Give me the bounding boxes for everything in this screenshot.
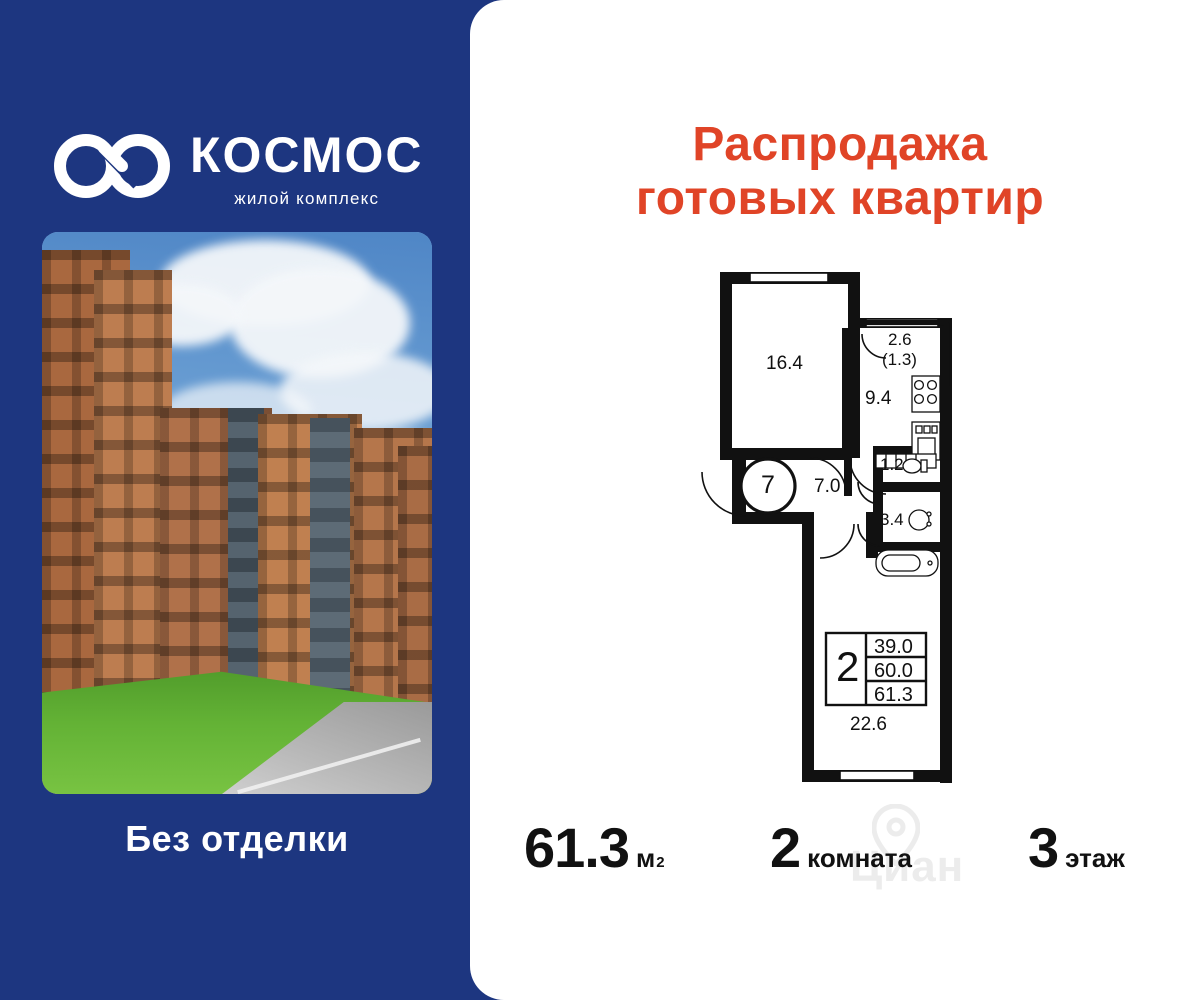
page-title: Распродажа готовых квартир [510,118,1170,226]
spec-area-unit-sup: 2 [656,854,664,871]
room-area-living-room: 22.6 [850,714,887,736]
spec-floor-label: этаж [1065,843,1125,874]
stamp-total-area: 61.3 [874,684,913,707]
finishing-caption: Без отделки [42,818,432,860]
spec-floor-value: 3 [1028,820,1058,876]
stamp-living-area: 39.0 [874,636,913,659]
stamp-room-count: 2 [836,643,859,691]
spec-area: 61.3 м 2 [524,820,665,876]
spec-floor: 3 этаж [1028,820,1125,876]
page-root: КОСМОС жилой комплекс Без отделки Распро… [0,0,1200,1000]
brand-text: КОСМОС жилой комплекс [190,130,424,209]
balcony-area: 2.6 [888,330,912,350]
apartment-specs: 61.3 м 2 2 комната 3 этаж [500,806,1190,896]
spec-area-value: 61.3 [524,820,629,876]
room-area-kitchen: 9.4 [865,388,891,410]
headline-line-2: готовых квартир [510,172,1170,226]
spec-rooms-label: комната [807,843,912,874]
brand-subtitle: жилой комплекс [190,189,424,209]
residential-complex-photo [42,232,432,794]
floor-plan: 16.4 9.4 2.6 (1.3) 7 7.0 1.2 3.4 2 39.0 … [690,258,980,798]
apartment-number-label: 7 [761,471,775,500]
spec-area-unit: м [636,843,655,874]
room-area-hallway: 7.0 [814,476,840,498]
room-area-toilet: 1.2 [880,455,904,475]
brand-block: КОСМОС жилой комплекс [52,118,444,218]
balcony-area-coefficient: (1.3) [882,350,917,370]
headline-line-1: Распродажа [510,118,1170,172]
room-area-bathroom: 3.4 [880,510,904,530]
spec-rooms-value: 2 [770,820,800,876]
spec-rooms: 2 комната [770,820,912,876]
infinity-icon [52,132,174,200]
stamp-area-without-balcony: 60.0 [874,660,913,683]
brand-name: КОСМОС [190,130,424,180]
room-area-bedroom: 16.4 [766,353,803,375]
